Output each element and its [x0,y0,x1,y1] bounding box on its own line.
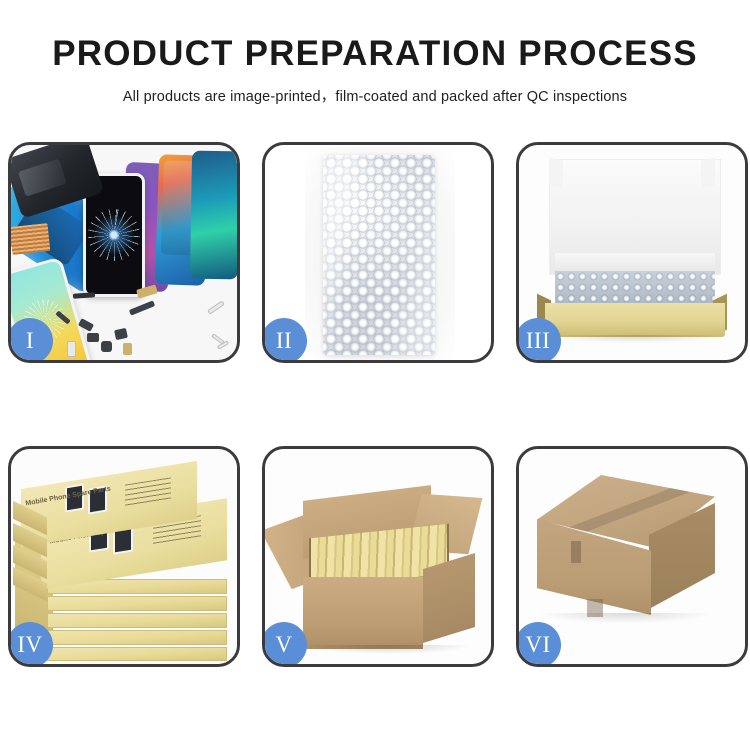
step-badge: I [8,318,53,363]
stack-box [47,596,227,611]
step-badge: VI [516,622,561,667]
box-lid-flap-right [701,157,715,188]
stack-box [47,613,227,628]
page-title: PRODUCT PREPARATION PROCESS [0,34,750,74]
plastic-sheen [323,155,435,355]
part-chip [101,341,112,352]
step-badge: IV [8,622,53,667]
bubble-wrap-pouch [323,155,435,355]
drop-shadow [549,335,721,343]
header: PRODUCT PREPARATION PROCESS All products… [0,0,750,106]
part-chip [123,343,132,355]
part-flex-cable [129,300,155,315]
step-panel-6: VI [516,446,748,667]
process-steps-grid: I II [8,142,742,667]
bubble-wrap-contents [555,271,715,305]
part-chip [87,333,99,342]
carton-flap-seam [571,541,581,563]
page-subtitle: All products are image-printed，film-coat… [0,85,750,106]
drop-shadow [301,645,471,654]
step-panel-3: III [516,142,748,363]
product-preparation-infographic: PRODUCT PREPARATION PROCESS All products… [0,0,750,750]
component-pin-board [11,223,50,255]
part-chip [73,292,95,299]
drop-shadow [541,613,709,623]
carton-side-panel [423,553,475,643]
carton-front-panel [303,577,423,649]
step-badge: II [262,318,307,363]
part-tool [207,300,225,314]
step-panel-4: Mobile Phone Spare Parts Mobile Phone Sp… [8,446,240,667]
part-chip [114,328,128,340]
box-lid-flap-left [549,157,563,188]
part-chip [67,341,76,357]
phone-teal [190,151,237,280]
step-panel-2: II [262,142,494,363]
stack-box [47,647,227,661]
box-front-panel [545,303,725,337]
step-badge: V [262,622,307,667]
step-badge: III [516,318,561,363]
step-panel-5: V [262,446,494,667]
step-panel-1: I [8,142,240,363]
stack-box [47,630,227,645]
